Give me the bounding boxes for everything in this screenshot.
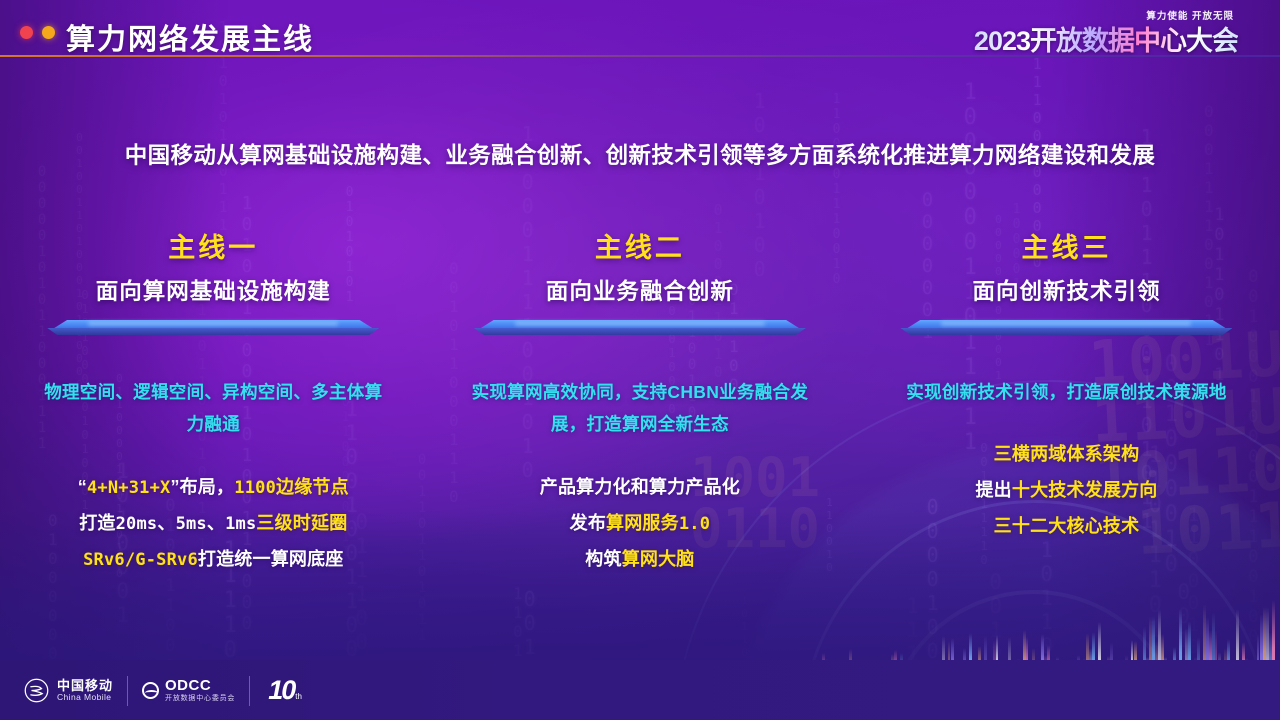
bullet-segment: 20ms (116, 514, 158, 534)
china-mobile-mark-icon (24, 678, 49, 703)
conference-name: 2023开放数据中心大会 (974, 19, 1238, 58)
column-2: 主线二面向业务融合创新实现算网高效协同，支持CHBN业务融合发展，打造算网全新生… (427, 226, 854, 626)
bullet-segment: 1100 (234, 478, 276, 498)
column-title-2: 面向业务融合创新 (427, 274, 854, 306)
bullet-segment: 提出 (975, 480, 1011, 500)
bullet-segment: 算网服务 (606, 513, 679, 533)
page-title: 算力网络发展主线 (66, 16, 314, 58)
bullet-line: 产品算力化和算力产品化 (427, 469, 854, 505)
footer-logos: 中国移动 China Mobile ODCC 开放数据中心委员会 10 th (24, 675, 302, 706)
red-dot-icon (20, 26, 33, 39)
column-bullets-3: 三横两域体系架构提出十大技术发展方向三十二大核心技术 (853, 436, 1280, 544)
column-title-1: 面向算网基础设施构建 (0, 274, 427, 306)
anniversary-suffix: th (295, 692, 302, 701)
column-description-2: 实现算网高效协同，支持CHBN业务融合发展，打造算网全新生态 (427, 376, 854, 441)
anniversary-badge: 10 th (268, 675, 302, 706)
bullet-segment: 、 (207, 513, 225, 533)
bullet-line: 发布算网服务1.0 (427, 505, 854, 541)
bullet-segment: 打造统一算网底座 (198, 549, 344, 569)
bullet-line: “4+N+31+X”布局，1100边缘节点 (0, 469, 427, 505)
bullet-segment: “ (78, 477, 87, 497)
bullet-segment: 产品算力化和算力产品化 (540, 477, 740, 497)
bullet-segment: 发布 (570, 513, 606, 533)
slab-face (900, 328, 1232, 335)
main-columns: 主线一面向算网基础设施构建物理空间、逻辑空间、异构空间、多主体算力融通“4+N+… (0, 226, 1280, 626)
slide-subtitle: 中国移动从算网基础设施构建、业务融合创新、创新技术引领等多方面系统化推进算力网络… (0, 138, 1280, 170)
bullet-segment: 1ms (225, 514, 256, 534)
column-bullets-2: 产品算力化和算力产品化发布算网服务1.0构筑算网大脑 (427, 469, 854, 577)
china-mobile-name-cn: 中国移动 (57, 679, 113, 693)
globe-icon (142, 682, 159, 699)
column-title-3: 面向创新技术引领 (853, 274, 1280, 306)
footer-divider (127, 676, 128, 706)
bullet-line: SRv6/G-SRv6打造统一算网底座 (0, 541, 427, 577)
bullet-segment: ” (170, 477, 179, 497)
anniversary-number: 10 (268, 675, 294, 706)
bullet-segment: 1.0 (679, 514, 710, 534)
footer-divider-2 (249, 676, 250, 706)
slab-face (47, 328, 379, 335)
bullet-segment: 、 (157, 513, 175, 533)
bullet-line: 打造20ms、5ms、1ms三级时延圈 (0, 505, 427, 541)
china-mobile-text: 中国移动 China Mobile (57, 679, 113, 702)
header-dots (20, 26, 55, 39)
bullet-segment: 布局， (180, 477, 235, 497)
bullet-segment: 构筑 (585, 549, 621, 569)
bullet-line: 三横两域体系架构 (853, 436, 1280, 472)
slab-glow (515, 322, 765, 325)
bullet-segment: 算网大脑 (622, 549, 695, 569)
column-bullets-1: “4+N+31+X”布局，1100边缘节点打造20ms、5ms、1ms三级时延圈… (0, 469, 427, 577)
bullet-segment: 5ms (176, 514, 207, 534)
odcc-logo: ODCC 开放数据中心委员会 (142, 678, 235, 702)
header-divider (0, 55, 1280, 57)
column-1: 主线一面向算网基础设施构建物理空间、逻辑空间、异构空间、多主体算力融通“4+N+… (0, 226, 427, 626)
bullet-segment: 边缘节点 (276, 477, 349, 497)
gold-dot-icon (42, 26, 55, 39)
column-key-2: 主线二 (427, 226, 854, 265)
bullet-segment: 打造 (79, 513, 115, 533)
bullet-segment: 十大技术发展方向 (1012, 480, 1158, 500)
slide-canvas: 1010110000101001100000110000100110110110… (0, 0, 1280, 720)
slab-glow (88, 322, 338, 325)
china-mobile-name-en: China Mobile (57, 693, 113, 702)
column-description-1: 物理空间、逻辑空间、异构空间、多主体算力融通 (0, 376, 427, 441)
conference-logo: 算力使能 开放无限 2023开放数据中心大会 (928, 8, 1238, 52)
bullet-line: 三十二大核心技术 (853, 508, 1280, 544)
column-3: 主线三面向创新技术引领实现创新技术引领，打造原创技术策源地三横两域体系架构提出十… (853, 226, 1280, 626)
bullet-segment: 三级时延圈 (256, 513, 347, 533)
slab-face (474, 328, 806, 335)
slide-header: 算力网络发展主线 算力使能 开放无限 2023开放数据中心大会 (0, 0, 1280, 56)
bullet-line: 提出十大技术发展方向 (853, 472, 1280, 508)
slab-glow (941, 322, 1191, 325)
china-mobile-logo: 中国移动 China Mobile (24, 678, 113, 703)
bullet-line: 构筑算网大脑 (427, 541, 854, 577)
column-key-3: 主线三 (853, 226, 1280, 265)
platform-slab-2 (427, 320, 854, 342)
bullet-segment: 4+N+31+X (87, 478, 170, 498)
odcc-name: ODCC (165, 678, 235, 695)
odcc-text: ODCC 开放数据中心委员会 (165, 678, 235, 702)
odcc-subtitle: 开放数据中心委员会 (165, 695, 235, 703)
platform-slab-1 (0, 320, 427, 342)
platform-slab-3 (853, 320, 1280, 342)
bullet-segment: 三十二大核心技术 (994, 516, 1140, 536)
column-description-3: 实现创新技术引领，打造原创技术策源地 (853, 376, 1280, 408)
bullet-segment: SRv6/G-SRv6 (83, 550, 198, 570)
column-key-1: 主线一 (0, 226, 427, 265)
bullet-segment: 三横两域体系架构 (994, 444, 1140, 464)
